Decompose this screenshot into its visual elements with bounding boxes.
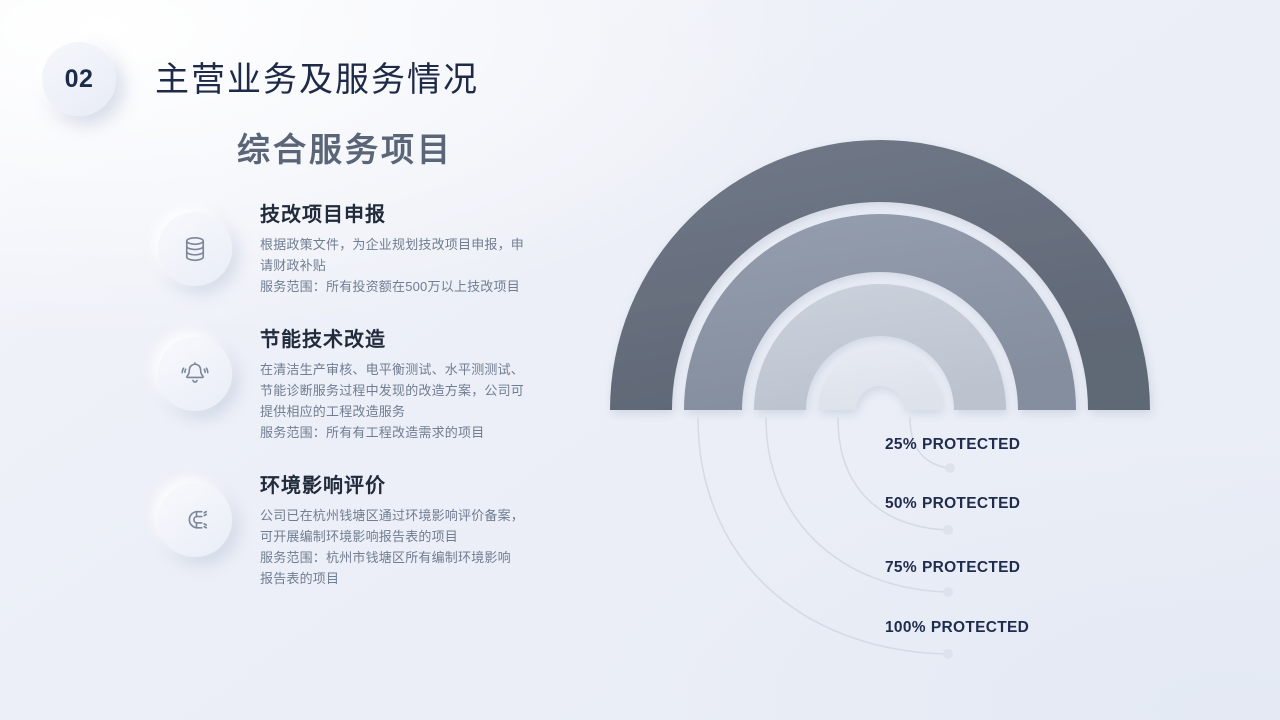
list-item-line: 提供相应的工程改造服务 [260,401,590,422]
list-item-line: 服务范围：所有有工程改造需求的项目 [260,422,590,443]
ring-segment-100 [818,348,942,410]
list-item-line: 节能诊断服务过程中发现的改造方案，公司可 [260,380,590,401]
list-item-line: 在清洁生产审核、电平衡测试、水平测测试、 [260,359,590,380]
legend-value: 75% [885,559,917,576]
list-item-title: 环境影响评价 [260,469,590,498]
bell-icon [158,337,232,411]
list-item-line: 根据政策文件，为企业规划技改项目申报，申 [260,234,590,255]
list-item-line: 请财政补贴 [260,255,590,276]
page-title: 主营业务及服务情况 [155,52,479,101]
legend-item-25: 25%PROTECTED [885,436,1020,454]
list-item-line: 可开展编制环境影响报告表的项目 [260,526,590,547]
list-item-body: 环境影响评价 公司已在杭州钱塘区通过环境影响评价备案， 可开展编制环境影响报告表… [260,467,590,589]
database-icon [158,212,232,286]
page-subtitle: 综合服务项目 [237,123,453,171]
magnet-icon [158,483,232,557]
legend-label: PROTECTED [931,619,1029,636]
feature-list: 技改项目申报 根据政策文件，为企业规划技改项目申报，申 请财政补贴 服务范围：所… [158,196,598,614]
list-item-title: 技改项目申报 [260,198,590,227]
legend-item-100: 100%PROTECTED [885,619,1029,637]
list-item-line: 公司已在杭州钱塘区通过环境影响评价备案， [260,505,590,526]
section-number-badge: 02 [42,42,116,116]
leader-dot-100 [943,649,953,659]
legend-value: 25% [885,436,917,453]
legend-item-50: 50%PROTECTED [885,495,1020,513]
list-item-line: 报告表的项目 [260,568,590,589]
legend-label: PROTECTED [922,495,1020,512]
list-item: 技改项目申报 根据政策文件，为企业规划技改项目申报，申 请财政补贴 服务范围：所… [158,196,598,297]
list-item-body: 技改项目申报 根据政策文件，为企业规划技改项目申报，申 请财政补贴 服务范围：所… [260,196,590,297]
list-item-title: 节能技术改造 [260,323,590,352]
list-item-body: 节能技术改造 在清洁生产审核、电平衡测试、水平测测试、 节能诊断服务过程中发现的… [260,321,590,443]
section-number: 02 [65,65,94,94]
leader-dot-25 [945,463,955,473]
radial-gauge-chart [588,128,1188,668]
list-item: 环境影响评价 公司已在杭州钱塘区通过环境影响评价备案， 可开展编制环境影响报告表… [158,467,598,589]
slide-canvas: 02 主营业务及服务情况 综合服务项目 技改项目申报 根据政策文件，为企业规划技… [0,0,1280,720]
legend-label: PROTECTED [922,559,1020,576]
legend-label: PROTECTED [922,436,1020,453]
list-item-line: 服务范围：所有投资额在500万以上技改项目 [260,276,590,297]
list-item-line: 服务范围：杭州市钱塘区所有编制环境影响 [260,547,590,568]
legend-value: 50% [885,495,917,512]
legend-item-75: 75%PROTECTED [885,559,1020,577]
list-item: 节能技术改造 在清洁生产审核、电平衡测试、水平测测试、 节能诊断服务过程中发现的… [158,321,598,443]
leader-dot-50 [943,525,953,535]
leader-line-50 [838,418,946,530]
leader-dot-75 [943,587,953,597]
legend-value: 100% [885,619,926,636]
